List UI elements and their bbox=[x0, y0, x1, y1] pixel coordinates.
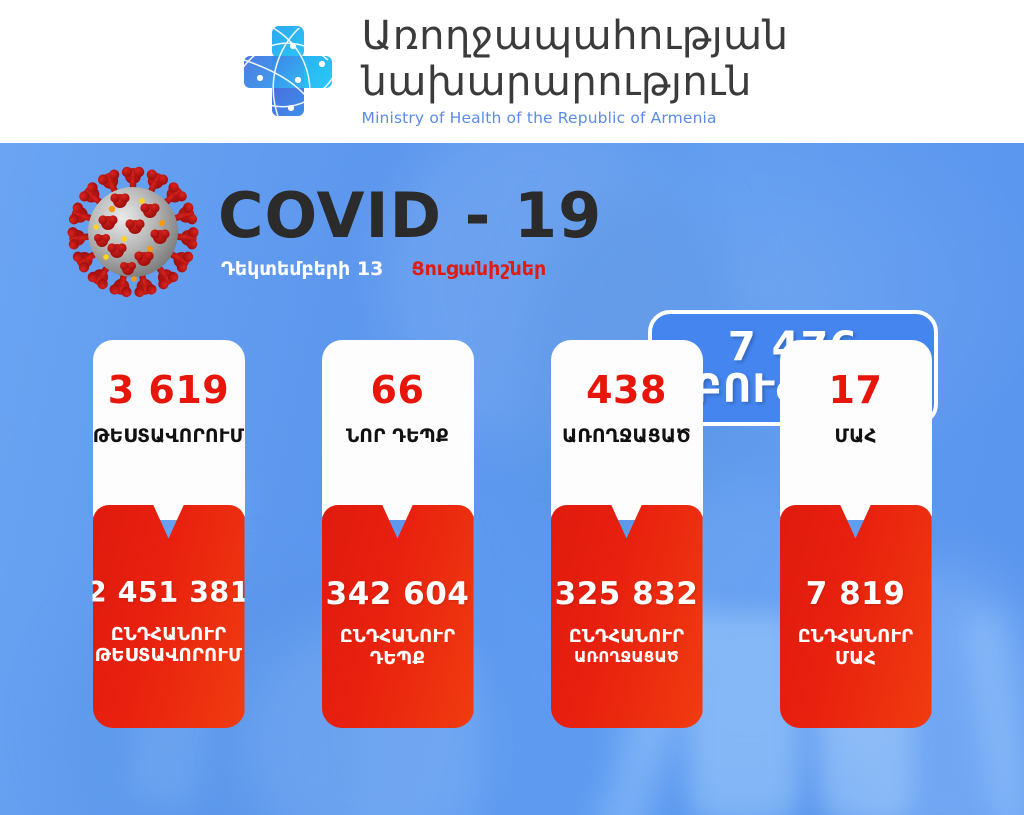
stat-card-total: 7 819 ԸՆԴՀԱՆՈՒՐ ՄԱՀ bbox=[780, 505, 932, 728]
report-date: Դեկտեմբերի 13 bbox=[221, 258, 383, 280]
total-value: 7 819 bbox=[806, 579, 906, 610]
daily-value: 3 619 bbox=[108, 371, 230, 409]
daily-label: ՆՈՐ ԴԵՊՔ bbox=[346, 426, 449, 447]
daily-label: ԱՌՈՂՋԱՑԱԾ bbox=[562, 426, 691, 447]
statistics-cards: 3 619 ԹԵՍՏԱՎՈՐՈՒՄ 2 451 381 ԸՆԴՀԱՆՈՒՐ ԹԵ… bbox=[0, 340, 1024, 740]
covid-statistics-infographic: Առողջապահության նախարարություն Ministry … bbox=[0, 0, 1024, 815]
daily-value: 438 bbox=[586, 371, 667, 409]
stat-card: 3 619 ԹԵՍՏԱՎՈՐՈՒՄ 2 451 381 ԸՆԴՀԱՆՈՒՐ ԹԵ… bbox=[93, 340, 245, 728]
stat-card-daily: 66 ՆՈՐ ԴԵՊՔ bbox=[322, 340, 474, 520]
total-value: 2 451 381 bbox=[87, 579, 250, 608]
total-label-line-1: ԸՆԴՀԱՆՈՒՐ bbox=[798, 626, 914, 648]
total-label-line-1: ԸՆԴՀԱՆՈՒՐ bbox=[95, 624, 242, 646]
org-name-line-2: նախարարություն bbox=[362, 62, 789, 102]
stat-card-total: 342 604 ԸՆԴՀԱՆՈՒՐ ԴԵՊՔ bbox=[322, 505, 474, 728]
ministry-name-block: Առողջապահության նախարարություն Ministry … bbox=[362, 16, 789, 127]
total-value: 342 604 bbox=[326, 579, 470, 610]
stat-card: 66 ՆՈՐ ԴԵՊՔ 342 604 ԸՆԴՀԱՆՈՒՐ ԴԵՊՔ bbox=[322, 340, 474, 728]
health-cross-network-logo-icon bbox=[236, 20, 340, 124]
stat-card: 17 ՄԱՀ 7 819 ԸՆԴՀԱՆՈՒՐ ՄԱՀ bbox=[780, 340, 932, 728]
infographic-body: COVID - 19 Դեկտեմբերի 13 Ցուցանիշներ 7 4… bbox=[0, 143, 1024, 815]
total-label: ԸՆԴՀԱՆՈՒՐ ՄԱՀ bbox=[798, 626, 914, 669]
stat-card-daily: 3 619 ԹԵՍՏԱՎՈՐՈՒՄ bbox=[93, 340, 245, 520]
total-label: ԸՆԴՀԱՆՈՒՐ ԱՌՈՂՋԱՑԱԾ bbox=[569, 626, 685, 666]
stat-card-daily: 17 ՄԱՀ bbox=[780, 340, 932, 520]
total-label-line-1: ԸՆԴՀԱՆՈՒՐ bbox=[340, 626, 456, 648]
coronavirus-illustration-icon bbox=[62, 161, 204, 303]
total-label-line-2: ԱՌՈՂՋԱՑԱԾ bbox=[569, 648, 685, 666]
daily-label: ԹԵՍՏԱՎՈՐՈՒՄ bbox=[93, 426, 244, 447]
org-name-line-1: Առողջապահության bbox=[362, 16, 789, 56]
stat-card: 438 ԱՌՈՂՋԱՑԱԾ 325 832 ԸՆԴՀԱՆՈՒՐ ԱՌՈՂՋԱՑԱ… bbox=[551, 340, 703, 728]
indicators-label: Ցուցանիշներ bbox=[411, 258, 546, 280]
total-value: 325 832 bbox=[555, 579, 699, 610]
title-subrow: Դեկտեմբերի 13 Ցուցանիշներ bbox=[221, 258, 602, 280]
org-subtitle-english: Ministry of Health of the Republic of Ar… bbox=[362, 111, 789, 127]
total-label: ԸՆԴՀԱՆՈՒՐ ԴԵՊՔ bbox=[340, 626, 456, 669]
stat-card-daily: 438 ԱՌՈՂՋԱՑԱԾ bbox=[551, 340, 703, 520]
total-label-line-2: ԹԵՍՏԱՎՈՐՈՒՄ bbox=[95, 645, 242, 667]
stat-card-total: 2 451 381 ԸՆԴՀԱՆՈՒՐ ԹԵՍՏԱՎՈՐՈՒՄ bbox=[93, 505, 245, 728]
total-label-line-1: ԸՆԴՀԱՆՈՒՐ bbox=[569, 626, 685, 648]
title-text-block: COVID - 19 Դեկտեմբերի 13 Ցուցանիշներ bbox=[218, 185, 602, 280]
covid-title-row: COVID - 19 Դեկտեմբերի 13 Ցուցանիշներ bbox=[62, 161, 602, 303]
page-title: COVID - 19 bbox=[218, 185, 602, 247]
daily-value: 17 bbox=[829, 371, 883, 409]
total-label-line-2: ԴԵՊՔ bbox=[340, 648, 456, 670]
total-label-line-2: ՄԱՀ bbox=[798, 648, 914, 670]
stat-card-total: 325 832 ԸՆԴՀԱՆՈՒՐ ԱՌՈՂՋԱՑԱԾ bbox=[551, 505, 703, 728]
daily-value: 66 bbox=[371, 371, 425, 409]
daily-label: ՄԱՀ bbox=[834, 426, 876, 447]
total-label: ԸՆԴՀԱՆՈՒՐ ԹԵՍՏԱՎՈՐՈՒՄ bbox=[95, 624, 242, 667]
ministry-header: Առողջապահության նախարարություն Ministry … bbox=[0, 0, 1024, 143]
